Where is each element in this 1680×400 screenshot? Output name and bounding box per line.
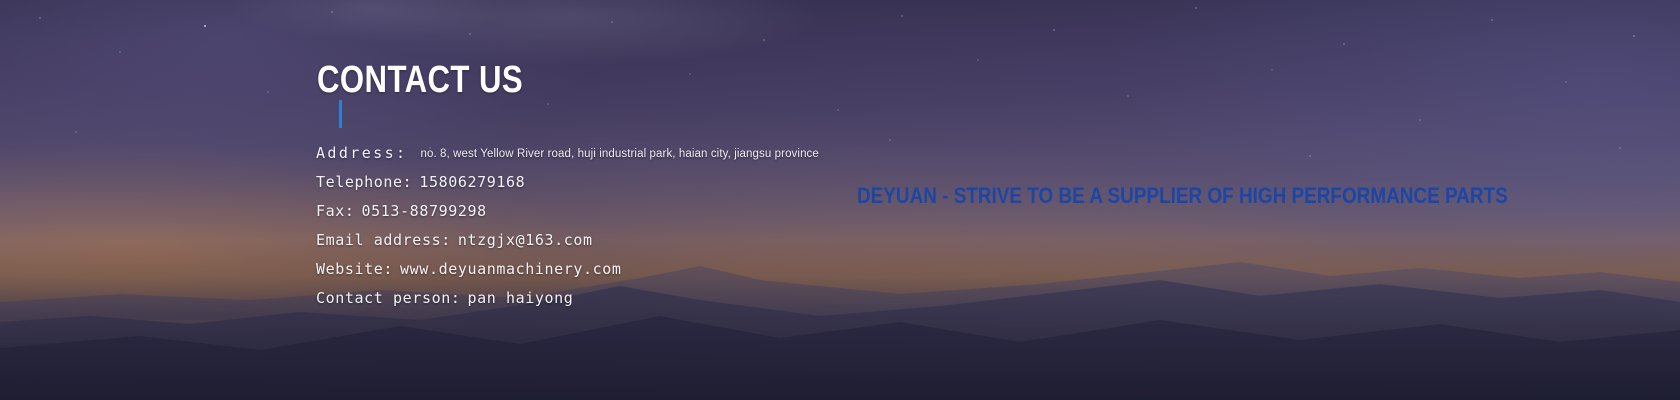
contact-row-address: Address: no. 8, west Yellow River road, … <box>316 143 1076 172</box>
contact-row-website: Website: www.deyuanmachinery.com <box>316 259 1076 288</box>
contact-label-fax: Fax: <box>316 201 355 221</box>
contact-value-telephone[interactable]: 15806279168 <box>419 172 525 192</box>
page-title: CONTACT US <box>317 58 523 102</box>
contact-value-address: no. 8, west Yellow River road, huji indu… <box>420 144 818 164</box>
contact-value-website[interactable]: www.deyuanmachinery.com <box>400 259 622 279</box>
banner-content: CONTACT US Address: no. 8, west Yellow R… <box>0 0 1680 400</box>
contact-label-address: Address: <box>316 143 407 163</box>
contact-value-fax: 0513-88799298 <box>362 201 487 221</box>
contact-row-email: Email address: ntzgjx@163.com <box>316 230 1076 259</box>
contact-banner: CONTACT US Address: no. 8, west Yellow R… <box>0 0 1680 400</box>
contact-label-website: Website: <box>316 259 393 279</box>
heading-accent-bar <box>339 100 342 128</box>
contact-label-contact-person: Contact person: <box>316 288 460 308</box>
contact-row-contact-person: Contact person: pan haiyong <box>316 288 1076 317</box>
company-slogan: DEYUAN - STRIVE TO BE A SUPPLIER OF HIGH… <box>857 183 1508 209</box>
contact-label-email: Email address: <box>316 230 451 250</box>
contact-label-telephone: Telephone: <box>316 172 412 192</box>
contact-value-email[interactable]: ntzgjx@163.com <box>458 230 593 250</box>
contact-details-list: Address: no. 8, west Yellow River road, … <box>316 143 1076 317</box>
contact-value-contact-person: pan haiyong <box>467 288 573 308</box>
